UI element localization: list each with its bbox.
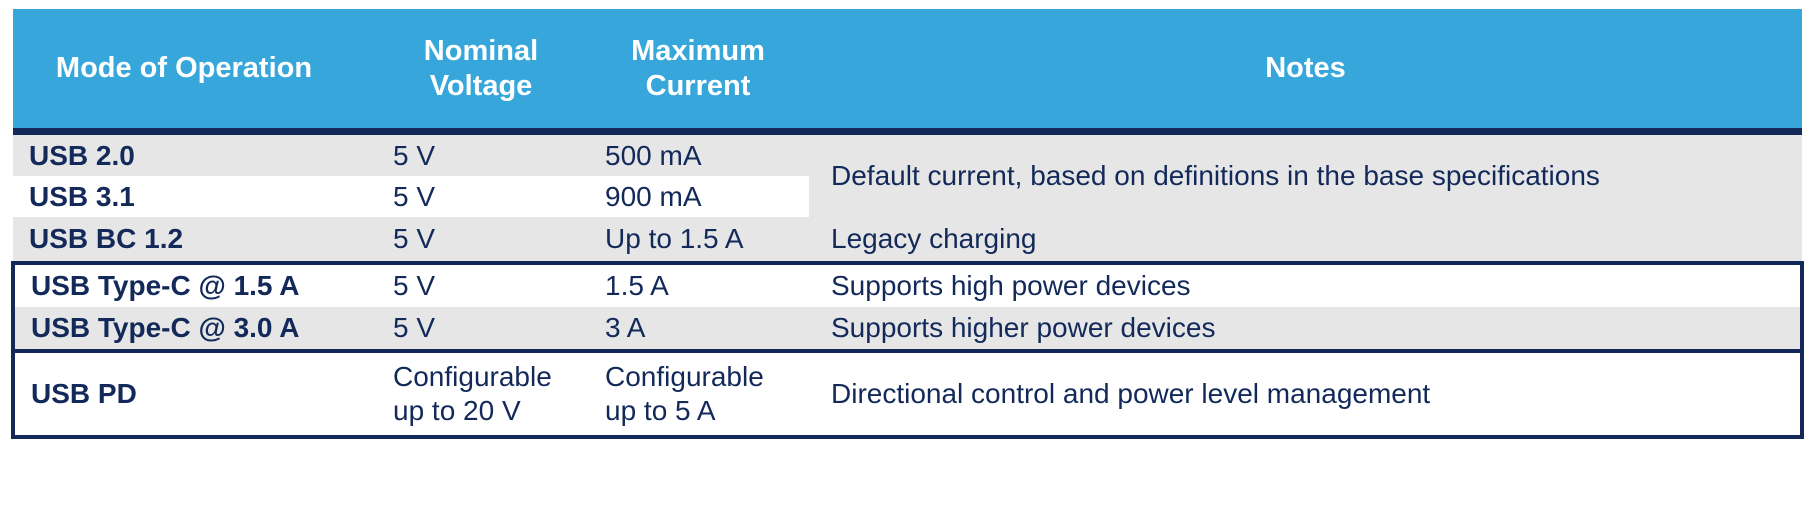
cell-current: 900 mA xyxy=(587,176,809,217)
spec-table-container: Mode of Operation Nominal Voltage Maximu… xyxy=(11,9,1800,512)
header-rule-segment xyxy=(375,128,587,135)
cell-mode: USB Type-C @ 3.0 A xyxy=(13,307,375,351)
cell-voltage: 5 V xyxy=(375,307,587,351)
cell-mode: USB 3.1 xyxy=(13,176,375,217)
cell-mode: USB 2.0 xyxy=(13,135,375,176)
table-body: USB 2.0 5 V 500 mA Default current, base… xyxy=(13,128,1802,437)
table-header: Mode of Operation Nominal Voltage Maximu… xyxy=(13,9,1802,128)
cell-current: 3 A xyxy=(587,307,809,351)
column-header-nominal-voltage: Nominal Voltage xyxy=(375,9,587,128)
column-header-notes: Notes xyxy=(809,9,1802,128)
header-rule-segment xyxy=(13,128,375,135)
cell-notes-merged: Default current, based on definitions in… xyxy=(809,135,1802,217)
column-header-maximum-current-line1: Maximum xyxy=(631,35,765,67)
table-row: USB 2.0 5 V 500 mA Default current, base… xyxy=(13,135,1802,176)
header-rule xyxy=(13,128,1802,135)
cell-notes: Legacy charging xyxy=(809,217,1802,263)
header-row: Mode of Operation Nominal Voltage Maximu… xyxy=(13,9,1802,128)
column-header-mode-of-operation: Mode of Operation xyxy=(13,9,375,128)
column-header-nominal-voltage-line2: Voltage xyxy=(430,70,533,102)
table-row: USB PD Configurable up to 20 V Configura… xyxy=(13,351,1802,437)
table-row: USB Type-C @ 3.0 A 5 V 3 A Supports high… xyxy=(13,307,1802,351)
usb-power-modes-table: Mode of Operation Nominal Voltage Maximu… xyxy=(11,9,1804,439)
table-row: USB Type-C @ 1.5 A 5 V 1.5 A Supports hi… xyxy=(13,263,1802,307)
header-rule-segment xyxy=(809,128,1802,135)
cell-voltage: Configurable up to 20 V xyxy=(375,351,587,437)
cell-mode: USB BC 1.2 xyxy=(13,217,375,263)
column-header-maximum-current-line2: Current xyxy=(646,70,751,102)
cell-voltage: 5 V xyxy=(375,263,587,307)
cell-mode: USB PD xyxy=(13,351,375,437)
cell-notes: Supports higher power devices xyxy=(809,307,1802,351)
cell-voltage: 5 V xyxy=(375,217,587,263)
cell-notes: Directional control and power level mana… xyxy=(809,351,1802,437)
cell-voltage: 5 V xyxy=(375,176,587,217)
header-rule-segment xyxy=(587,128,809,135)
cell-mode: USB Type-C @ 1.5 A xyxy=(13,263,375,307)
cell-current: 500 mA xyxy=(587,135,809,176)
column-header-maximum-current: Maximum Current xyxy=(587,9,809,128)
cell-voltage: 5 V xyxy=(375,135,587,176)
column-header-nominal-voltage-line1: Nominal xyxy=(424,35,538,67)
cell-current: Up to 1.5 A xyxy=(587,217,809,263)
cell-current: 1.5 A xyxy=(587,263,809,307)
table-row: USB BC 1.2 5 V Up to 1.5 A Legacy chargi… xyxy=(13,217,1802,263)
cell-current: Configurable up to 5 A xyxy=(587,351,809,437)
cell-notes: Supports high power devices xyxy=(809,263,1802,307)
